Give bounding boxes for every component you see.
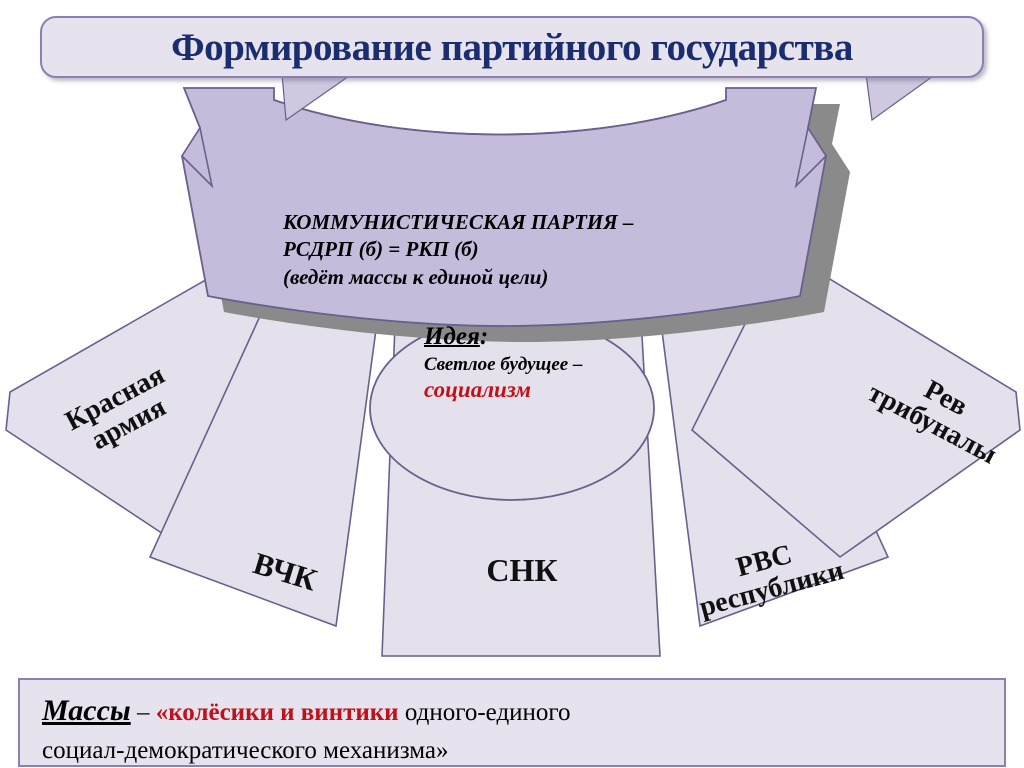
bottom-dash: – bbox=[131, 699, 156, 726]
banner-line-3: (ведёт массы к единой цели) bbox=[283, 264, 743, 291]
bottom-red-phrase: «колёсики и винтики bbox=[156, 699, 399, 726]
idea-text-block: Идея: Светлое будущее – социализм bbox=[424, 322, 694, 404]
banner-line-2: РСДРП (б) = РКП (б) bbox=[283, 236, 743, 263]
wedge-label-snk: СНК bbox=[467, 554, 577, 588]
idea-heading-word: Идея bbox=[424, 323, 480, 350]
idea-heading: Идея: bbox=[424, 322, 488, 353]
pointer-right bbox=[866, 74, 936, 120]
banner-line-1: КОММУНИСТИЧЕСКАЯ ПАРТИЯ – bbox=[283, 209, 743, 236]
bottom-caption-box: Массы – «колёсики и винтики одного-едино… bbox=[18, 678, 1006, 767]
bottom-caption-line-2: социал-демократического механизма» bbox=[42, 733, 1004, 768]
slide-canvas: Формирование партийного государства КОММ… bbox=[0, 0, 1024, 767]
idea-heading-colon: : bbox=[480, 323, 488, 350]
slide-title-box: Формирование партийного государства bbox=[40, 16, 984, 78]
bottom-plain-tail: одного-единого bbox=[399, 699, 571, 726]
banner-text-block: КОММУНИСТИЧЕСКАЯ ПАРТИЯ – РСДРП (б) = РК… bbox=[283, 209, 743, 291]
wedge-label-line-1: СНК bbox=[467, 554, 577, 588]
bottom-massy-word: Массы bbox=[42, 694, 131, 727]
page-title: Формирование партийного государства bbox=[171, 28, 853, 67]
bottom-caption-line-1: Массы – «колёсики и винтики одного-едино… bbox=[42, 690, 1004, 733]
idea-line-1: Светлое будущее – bbox=[424, 353, 694, 376]
idea-line-2: социализм bbox=[424, 376, 694, 404]
idea-heading-row: Идея: bbox=[424, 322, 694, 353]
